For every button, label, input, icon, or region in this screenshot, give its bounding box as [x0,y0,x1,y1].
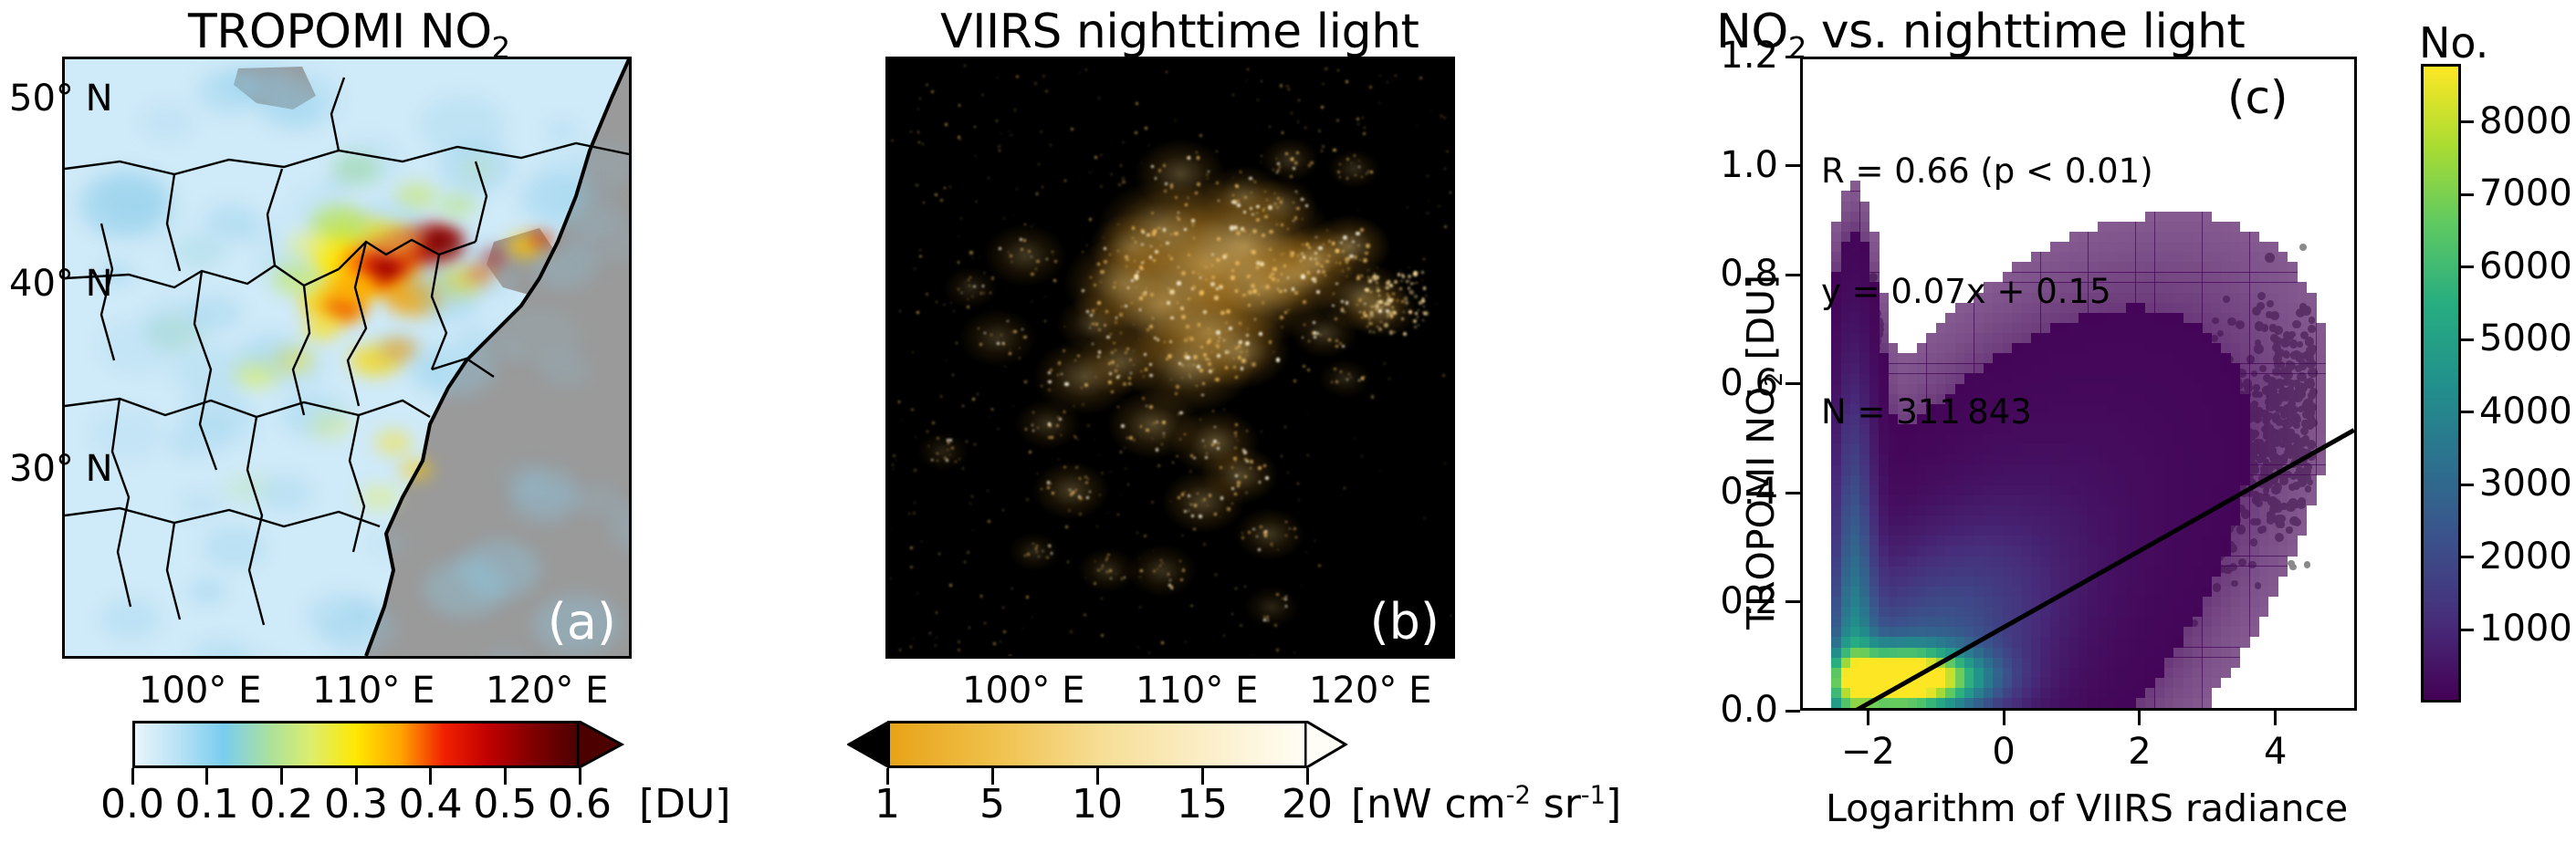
panel-c-density-cell[interactable] [2173,303,2183,313]
panel-c-density-cell[interactable] [2183,252,2194,262]
panel-c-density-cell[interactable] [2088,607,2098,617]
panel-b-light-pixel[interactable] [927,431,927,432]
panel-b-light-pixel[interactable] [1247,68,1248,69]
panel-b-light-pixel[interactable] [1106,336,1109,338]
panel-b-light-pixel[interactable] [1293,527,1296,530]
panel-b-light-pixel[interactable] [1346,158,1349,161]
panel-c-density-cell[interactable] [2164,607,2174,617]
panel-c-density-cell[interactable] [2069,536,2079,546]
panel-c-density-cell[interactable] [2202,222,2212,232]
panel-b-light-pixel[interactable] [1414,271,1417,274]
panel-b-city-glow[interactable] [917,432,969,471]
panel-b-light-pixel[interactable] [1193,528,1196,531]
panel-c-density-cell[interactable] [1841,688,1851,698]
panel-b-light-pixel[interactable] [1051,552,1052,554]
panel-c-density-cell[interactable] [1984,688,1994,698]
panel-b-light-pixel[interactable] [1237,203,1241,207]
panel-c-density-cell[interactable] [2193,232,2203,242]
panel-b-light-pixel[interactable] [958,261,960,264]
panel-b-light-pixel[interactable] [1008,251,1010,253]
panel-c-density-cell[interactable] [1974,526,1984,536]
panel-c-density-cell[interactable] [1841,577,1851,587]
panel-c-density-cell[interactable] [2202,313,2212,323]
panel-c-density-cell[interactable] [2117,607,2127,617]
panel-b-light-pixel[interactable] [1450,192,1452,194]
panel-b-light-pixel[interactable] [972,530,973,531]
panel-c-density-cell[interactable] [2183,262,2194,272]
panel-c-density-cell[interactable] [2193,434,2203,444]
panel-c-density-cell[interactable] [2145,668,2155,678]
panel-c-density-cell[interactable] [2202,404,2212,414]
panel-c-density-cell[interactable] [1831,536,1841,546]
panel-b-light-pixel[interactable] [974,126,976,128]
panel-b-light-pixel[interactable] [1045,90,1048,93]
panel-c-density-cell[interactable] [2231,536,2241,546]
panel-c-density-cell[interactable] [2031,546,2041,556]
panel-b-light-pixel[interactable] [1191,515,1194,517]
panel-c-density-cell[interactable] [2183,587,2194,597]
panel-b-light-pixel[interactable] [1290,253,1294,257]
panel-b-light-pixel[interactable] [1259,332,1262,336]
panel-c-density-cell[interactable] [1926,647,1936,657]
panel-b-light-pixel[interactable] [969,503,971,505]
panel-b-light-pixel[interactable] [914,469,916,472]
panel-b-light-pixel[interactable] [1251,656,1252,658]
panel-c-density-cell[interactable] [2173,313,2183,323]
panel-b-light-pixel[interactable] [1368,322,1372,326]
panel-c-density-cell[interactable] [2059,577,2069,587]
panel-c-density-cell[interactable] [2164,627,2174,637]
panel-c-density-cell[interactable] [2126,566,2136,576]
panel-c-density-cell[interactable] [1908,647,1918,657]
panel-c-density-cell[interactable] [2231,505,2241,515]
panel-b-light-pixel[interactable] [1010,131,1011,133]
panel-c-density-cell[interactable] [2107,617,2117,627]
panel-c-density-cell[interactable] [2069,617,2079,627]
panel-c-density-cell[interactable] [1859,627,1869,637]
panel-c-density-cell[interactable] [2079,536,2089,546]
panel-b-city-glow[interactable] [1162,471,1244,533]
panel-c-density-cell[interactable] [2098,546,2108,556]
panel-c-density-cell[interactable] [2059,536,2069,546]
panel-c-density-cell[interactable] [2126,657,2136,667]
panel-c-density-cell[interactable] [2164,495,2174,505]
panel-c-density-cell[interactable] [1889,647,1899,657]
panel-c-density-cell[interactable] [2050,637,2060,647]
panel-c-density-cell[interactable] [2212,637,2222,647]
panel-b-light-pixel[interactable] [940,199,943,202]
panel-c-density-cell[interactable] [2050,668,2060,678]
panel-b-light-pixel[interactable] [1087,424,1089,426]
panel-c-density-cell[interactable] [2164,668,2174,678]
panel-b-light-pixel[interactable] [1405,301,1408,305]
panel-b-light-pixel[interactable] [931,90,934,93]
panel-b-light-pixel[interactable] [895,460,897,462]
panel-b-light-pixel[interactable] [1217,354,1220,357]
panel-c-density-cell[interactable] [2173,242,2183,252]
panel-b-light-pixel[interactable] [1393,311,1397,315]
panel-b-light-pixel[interactable] [1148,652,1149,653]
panel-c-density-cell[interactable] [2031,556,2041,566]
panel-c-density-cell[interactable] [2212,464,2222,474]
panel-b-light-pixel[interactable] [1120,164,1123,167]
panel-c-density-cell[interactable] [2154,252,2164,262]
panel-b-light-pixel[interactable] [1079,72,1080,73]
panel-b-light-pixel[interactable] [959,139,961,140]
panel-c-density-cell[interactable] [2164,384,2174,394]
panel-c-density-cell[interactable] [2164,647,2174,657]
panel-c-density-cell[interactable] [2164,272,2174,282]
panel-b-light-pixel[interactable] [1203,498,1206,501]
panel-c-density-cell[interactable] [2183,303,2194,313]
panel-c-density-cell[interactable] [2098,627,2108,637]
panel-c-density-cell[interactable] [2193,444,2203,454]
panel-b-light-pixel[interactable] [1444,168,1446,170]
panel-c-density-cell[interactable] [2202,454,2212,464]
panel-c-density-cell[interactable] [1869,556,1880,566]
panel-b-light-pixel[interactable] [1378,309,1382,313]
panel-c-density-cell[interactable] [1908,566,1918,576]
panel-c-density-cell[interactable] [2135,556,2145,566]
panel-c-density-cell[interactable] [2126,597,2136,607]
panel-b-light-pixel[interactable] [1277,279,1280,282]
panel-c-density-cell[interactable] [1850,536,1860,546]
panel-c-density-cell[interactable] [2193,587,2203,597]
panel-b-light-pixel[interactable] [1422,319,1424,321]
panel-c-density-cell[interactable] [1831,688,1841,698]
panel-b-light-pixel[interactable] [946,360,947,361]
panel-c-density-cell[interactable] [1898,647,1908,657]
panel-c-density-cell[interactable] [1984,597,1994,607]
panel-c-density-cell[interactable] [1879,546,1889,556]
panel-c-density-cell[interactable] [2154,343,2164,353]
panel-b-light-pixel[interactable] [1070,493,1073,495]
panel-c-density-cell[interactable] [1984,678,1994,688]
panel-c-density-cell[interactable] [1879,526,1889,536]
panel-c-density-cell[interactable] [2183,474,2194,484]
panel-c-density-cell[interactable] [2117,698,2127,708]
panel-c-density-cell[interactable] [1917,536,1927,546]
panel-b-city-glow[interactable] [1292,308,1357,358]
panel-c-density-cell[interactable] [2003,698,2013,708]
panel-c-density-cell[interactable] [2003,647,2013,657]
panel-c-density-cell[interactable] [2183,384,2194,394]
panel-c-density-cell[interactable] [2164,485,2174,495]
panel-b-light-pixel[interactable] [918,141,920,143]
panel-c-density-cell[interactable] [2193,577,2203,587]
panel-c-density-cell[interactable] [2173,495,2183,505]
panel-b-light-pixel[interactable] [991,276,994,279]
panel-c-density-cell[interactable] [2183,434,2194,444]
panel-b-light-pixel[interactable] [1197,156,1200,160]
panel-b-light-pixel[interactable] [1032,411,1034,413]
panel-c-density-cell[interactable] [1984,556,1994,566]
panel-c-density-cell[interactable] [2022,587,2032,597]
panel-c-density-cell[interactable] [2145,657,2155,667]
panel-c-density-cell[interactable] [2154,424,2164,434]
panel-c-density-cell[interactable] [1936,627,1946,637]
panel-b-light-pixel[interactable] [922,143,924,145]
panel-c-density-cell[interactable] [2022,546,2032,556]
panel-c-density-cell[interactable] [2031,688,2041,698]
panel-b-light-pixel[interactable] [1145,127,1147,130]
panel-b-light-pixel[interactable] [944,304,945,305]
panel-b-light-pixel[interactable] [1201,394,1203,396]
panel-c-density-cell[interactable] [2107,536,2117,546]
panel-b-city-glow[interactable] [1235,508,1304,560]
panel-c-density-cell[interactable] [2154,587,2164,597]
panel-b-light-pixel[interactable] [1129,359,1132,361]
panel-c-density-cell[interactable] [1945,546,1955,556]
panel-c-density-cell[interactable] [1889,657,1899,667]
panel-c-density-cell[interactable] [2231,617,2241,627]
panel-c-density-cell[interactable] [2173,546,2183,556]
panel-c-density-cell[interactable] [2173,323,2183,333]
panel-c-density-cell[interactable] [1936,566,1946,576]
panel-c-density-cell[interactable] [2221,343,2231,353]
panel-c-density-cell[interactable] [2202,242,2212,252]
panel-c-density-cell[interactable] [1993,668,2003,678]
panel-c-density-cell[interactable] [2154,434,2164,444]
panel-c-density-cell[interactable] [1879,597,1889,607]
panel-c-density-cell[interactable] [1889,698,1899,708]
panel-c-density-cell[interactable] [2135,678,2145,688]
panel-c-density-cell[interactable] [2098,515,2108,526]
panel-b-light-pixel[interactable] [1400,270,1401,271]
panel-c-density-cell[interactable] [1869,587,1880,597]
panel-c-density-cell[interactable] [2117,688,2127,698]
panel-c-density-cell[interactable] [2022,637,2032,647]
panel-c-density-cell[interactable] [2202,353,2212,363]
panel-b-light-pixel[interactable] [1101,154,1102,155]
panel-c-density-cell[interactable] [2183,212,2194,222]
panel-b-light-pixel[interactable] [1316,332,1319,335]
panel-c-density-cell[interactable] [1898,566,1908,576]
panel-c-density-cell[interactable] [2193,556,2203,566]
panel-c-density-cell[interactable] [2173,424,2183,434]
panel-c-density-cell[interactable] [2212,454,2222,464]
panel-c-density-cell[interactable] [2126,698,2136,708]
panel-c-density-cell[interactable] [2202,444,2212,454]
panel-c-density-cell[interactable] [2221,566,2231,576]
panel-b-light-pixel[interactable] [977,393,979,395]
panel-c-density-cell[interactable] [1917,577,1927,587]
panel-c-density-cell[interactable] [2088,546,2098,556]
panel-c-density-cell[interactable] [2193,485,2203,495]
panel-c-density-cell[interactable] [1945,556,1955,566]
panel-c-density-cell[interactable] [1869,515,1880,526]
panel-b-light-pixel[interactable] [916,593,918,595]
panel-c-density-cell[interactable] [2193,282,2203,292]
panel-c-density-cell[interactable] [2117,637,2127,647]
panel-c-density-cell[interactable] [2040,515,2050,526]
panel-b-light-pixel[interactable] [1216,182,1219,184]
panel-c-density-cell[interactable] [2098,698,2108,708]
panel-c-density-cell[interactable] [2212,647,2222,657]
panel-c-density-cell[interactable] [2040,546,2050,556]
panel-c-density-cell[interactable] [1936,515,1946,526]
panel-c-density-cell[interactable] [2098,668,2108,678]
panel-c-density-cell[interactable] [2107,647,2117,657]
panel-c-density-cell[interactable] [2050,526,2060,536]
panel-c-density-cell[interactable] [2202,333,2212,343]
panel-b-light-pixel[interactable] [1301,585,1303,587]
panel-b-light-pixel[interactable] [1282,131,1284,134]
panel-c-density-cell[interactable] [2212,577,2222,587]
panel-b-light-pixel[interactable] [1139,265,1142,268]
panel-c-density-cell[interactable] [1869,637,1880,647]
panel-b-light-pixel[interactable] [945,123,948,126]
panel-c-density-cell[interactable] [1955,657,1965,667]
panel-b-light-pixel[interactable] [1127,484,1129,485]
panel-b-light-pixel[interactable] [914,267,916,269]
panel-c-density-cell[interactable] [2040,566,2050,576]
panel-c-density-cell[interactable] [2193,333,2203,343]
panel-b-light-pixel[interactable] [1024,555,1026,557]
panel-b-light-pixel[interactable] [921,541,923,543]
panel-c-density-cell[interactable] [1936,556,1946,566]
panel-c-density-cell[interactable] [2040,587,2050,597]
panel-c-density-cell[interactable] [2164,333,2174,343]
panel-b-light-pixel[interactable] [893,469,894,470]
panel-c-density-cell[interactable] [1850,597,1860,607]
panel-c-density-cell[interactable] [2202,627,2212,637]
panel-c-density-cell[interactable] [2212,424,2222,434]
panel-b-light-pixel[interactable] [1293,220,1294,222]
panel-c-density-cell[interactable] [2069,698,2079,708]
panel-c-density-cell[interactable] [1964,627,1974,637]
panel-b-light-pixel[interactable] [1035,547,1038,550]
panel-b-light-pixel[interactable] [1401,274,1404,276]
panel-c-density-cell[interactable] [1859,515,1869,526]
panel-b-light-pixel[interactable] [1077,439,1078,440]
panel-b-light-pixel[interactable] [967,306,969,308]
panel-c-density-cell[interactable] [1859,566,1869,576]
panel-c-density-cell[interactable] [2003,515,2013,526]
panel-b-light-pixel[interactable] [1409,280,1411,282]
panel-b-light-pixel[interactable] [1029,451,1031,453]
panel-c-density-cell[interactable] [1850,647,1860,657]
panel-c-density-cell[interactable] [1945,637,1955,647]
panel-b-light-pixel[interactable] [1046,557,1048,558]
panel-c-density-cell[interactable] [1936,678,1946,688]
panel-b-light-pixel[interactable] [1042,75,1045,78]
panel-c-density-cell[interactable] [2031,698,2041,708]
panel-c-density-cell[interactable] [2059,637,2069,647]
panel-b-light-pixel[interactable] [1137,647,1138,648]
panel-b-light-pixel[interactable] [1211,265,1213,266]
panel-c-density-cell[interactable] [2202,597,2212,607]
panel-c-density-cell[interactable] [2012,627,2022,637]
panel-c-density-cell[interactable] [2012,536,2022,546]
panel-b-light-pixel[interactable] [1308,164,1311,167]
panel-b-light-pixel[interactable] [1065,526,1068,528]
panel-b-light-pixel[interactable] [997,428,1000,431]
panel-b-light-pixel[interactable] [1026,596,1029,598]
panel-b-light-pixel[interactable] [1421,271,1425,275]
panel-c-density-cell[interactable] [1993,577,2003,587]
panel-c-density-cell[interactable] [2231,464,2241,474]
panel-c-density-cell[interactable] [2059,607,2069,617]
panel-c-density-cell[interactable] [1926,515,1936,526]
panel-c-density-cell[interactable] [2069,657,2079,667]
panel-c-density-cell[interactable] [2126,515,2136,526]
panel-c-density-cell[interactable] [2117,597,2127,607]
panel-c-density-cell[interactable] [2117,678,2127,688]
panel-b-light-pixel[interactable] [929,632,931,634]
panel-c-density-cell[interactable] [1850,637,1860,647]
panel-b-light-pixel[interactable] [1258,293,1260,295]
panel-c-density-cell[interactable] [2003,607,2013,617]
panel-c-density-cell[interactable] [1850,688,1860,698]
panel-c-density-cell[interactable] [2031,657,2041,667]
panel-b-light-pixel[interactable] [1258,466,1262,470]
panel-c-density-cell[interactable] [2145,678,2155,688]
panel-c-density-cell[interactable] [2202,688,2212,698]
panel-b-light-pixel[interactable] [1010,255,1012,257]
panel-c-density-cell[interactable] [2022,556,2032,566]
panel-b-light-pixel[interactable] [1067,561,1069,563]
panel-b-light-pixel[interactable] [1098,454,1099,455]
panel-b-light-pixel[interactable] [944,187,946,189]
panel-b-light-pixel[interactable] [1147,328,1148,330]
panel-c-density-cell[interactable] [1879,577,1889,587]
panel-b-light-pixel[interactable] [1215,574,1217,576]
panel-b-light-pixel[interactable] [1118,183,1121,186]
panel-c-density-cell[interactable] [2079,647,2089,657]
panel-c-density-cell[interactable] [1984,546,1994,556]
panel-c-density-cell[interactable] [1859,688,1869,698]
panel-c-density-cell[interactable] [1926,617,1936,627]
panel-c-density-cell[interactable] [2135,698,2145,708]
panel-b-light-pixel[interactable] [1121,424,1125,428]
panel-c-density-cell[interactable] [2079,627,2089,637]
panel-b-light-pixel[interactable] [1395,75,1397,77]
panel-b-light-pixel[interactable] [1257,99,1259,101]
panel-b-light-pixel[interactable] [1175,120,1177,121]
panel-b-light-pixel[interactable] [1296,151,1299,154]
panel-c-density-cell[interactable] [1889,577,1899,587]
panel-c-density-cell[interactable] [1936,526,1946,536]
panel-c-density-cell[interactable] [2183,272,2194,282]
panel-c-density-cell[interactable] [2059,556,2069,566]
panel-b-light-pixel[interactable] [958,649,960,651]
panel-b-light-pixel[interactable] [993,642,996,645]
panel-c-density-cell[interactable] [2135,637,2145,647]
panel-c-density-cell[interactable] [1908,637,1918,647]
panel-c-density-cell[interactable] [2145,647,2155,657]
panel-c-density-cell[interactable] [2107,678,2117,688]
panel-b-light-pixel[interactable] [891,529,892,530]
panel-b-light-pixel[interactable] [893,454,895,457]
panel-c-density-cell[interactable] [1926,566,1936,576]
panel-b-light-pixel[interactable] [1380,307,1383,309]
panel-b-light-pixel[interactable] [1350,377,1352,379]
panel-b-city-glow[interactable] [1244,587,1299,628]
panel-c-density-cell[interactable] [2212,474,2222,484]
panel-b-light-pixel[interactable] [1335,283,1338,286]
panel-b-light-pixel[interactable] [1322,145,1324,147]
panel-b-light-pixel[interactable] [1206,173,1208,175]
panel-c-density-cell[interactable] [2154,577,2164,587]
panel-b-light-pixel[interactable] [1419,77,1422,79]
panel-c-density-cell[interactable] [2202,587,2212,597]
panel-c-density-cell[interactable] [2212,657,2222,667]
panel-b-light-pixel[interactable] [1225,322,1227,324]
panel-c-density-cell[interactable] [2193,262,2203,272]
panel-b-light-pixel[interactable] [910,131,912,133]
panel-c-density-cell[interactable] [2221,333,2231,343]
